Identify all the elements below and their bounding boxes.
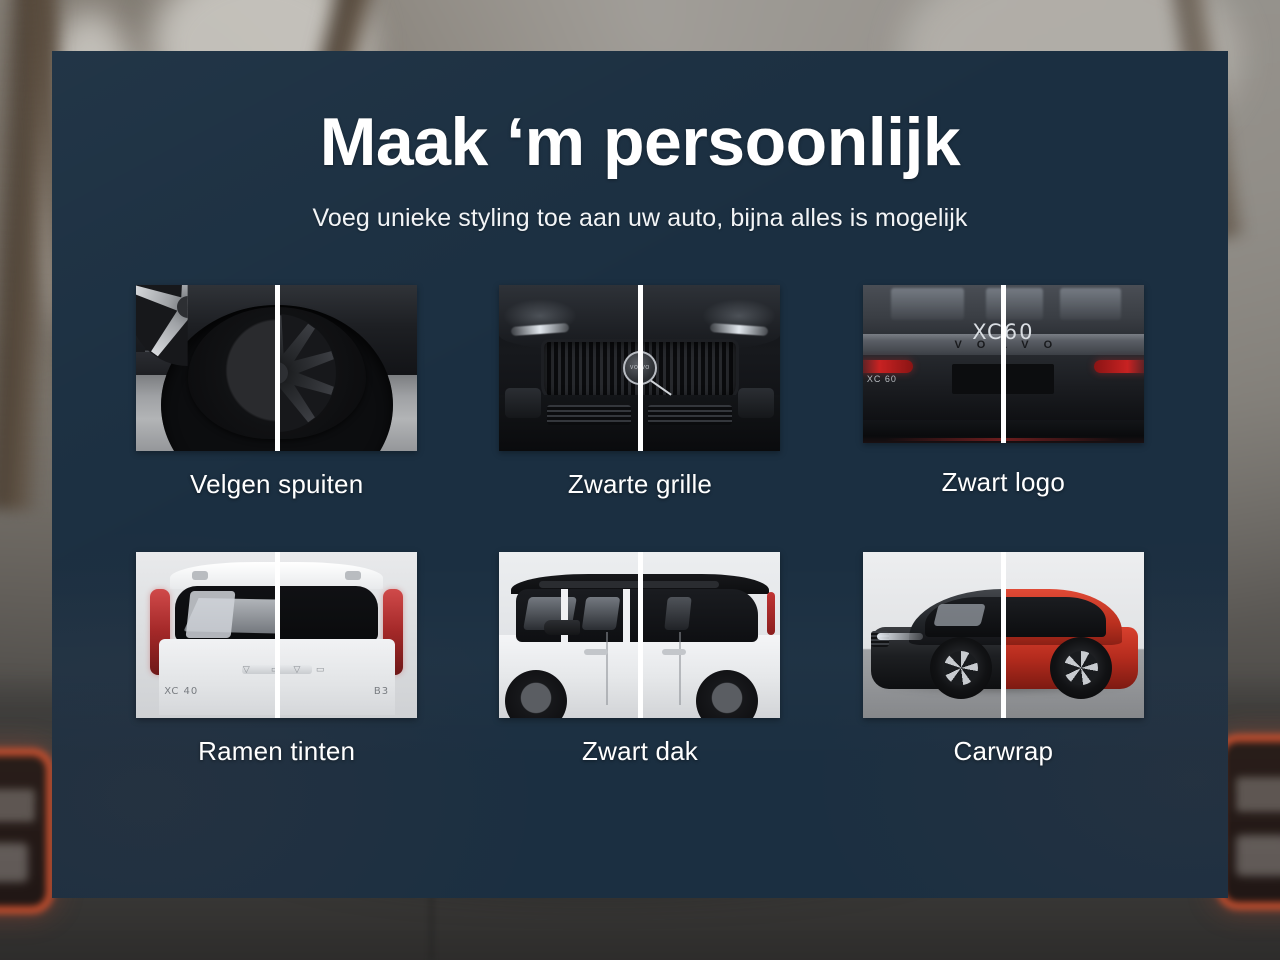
window-reflection — [1060, 288, 1122, 319]
feature-thumbnail-zwart-dak[interactable] — [499, 552, 780, 718]
wheel — [930, 637, 992, 699]
tailgate-emblem: ▽ — [243, 664, 250, 675]
door-seam — [679, 632, 681, 705]
feature-label-zwart-logo: Zwart logo — [942, 467, 1065, 498]
door-handle — [584, 649, 608, 655]
taillight-icon — [1224, 742, 1280, 902]
taillight-icon — [863, 360, 913, 373]
feature-label-zwart-dak: Zwart dak — [582, 736, 698, 767]
bumper-corner — [738, 388, 774, 418]
feature-thumbnail-ramen-tinten[interactable]: ▽ ▭ ▽ ▭ XC 40 B3 — [136, 552, 417, 718]
roof-rail — [192, 571, 208, 580]
wheel — [1050, 637, 1112, 699]
air-intake — [547, 405, 631, 425]
feature-tile-carwrap[interactable]: Carwrap — [837, 552, 1170, 767]
taillight-inner — [1236, 835, 1280, 877]
headlight-icon — [877, 633, 923, 640]
window-reflection — [986, 288, 1042, 319]
window-reflection — [891, 288, 964, 319]
feature-label-ramen-tinten: Ramen tinten — [198, 736, 355, 767]
feature-grid: Velgen spuiten — [110, 285, 1170, 767]
model-badge-left: XC 40 — [164, 686, 198, 697]
before-after-split-line[interactable] — [1001, 285, 1006, 443]
feature-thumbnail-carwrap[interactable] — [863, 552, 1144, 718]
feature-thumbnail-zwarte-grille[interactable]: VOLVO — [499, 285, 780, 451]
feature-thumbnail-zwart-logo[interactable]: VOLVO XC60 XC 60 — [863, 285, 1144, 443]
window-reflection — [582, 597, 620, 630]
feature-tile-ramen-tinten[interactable]: ▽ ▭ ▽ ▭ XC 40 B3 Ramen tinten — [110, 552, 443, 767]
side-mirror — [544, 620, 580, 635]
door-handle — [662, 649, 686, 655]
tailgate-emblem: ▽ — [294, 664, 301, 675]
window-reflection — [664, 597, 692, 630]
untinted-reflection — [185, 591, 234, 638]
model-badge-right: B3 — [374, 686, 389, 697]
c-pillar — [623, 589, 630, 642]
taillight-icon — [767, 592, 775, 635]
bumper-corner — [505, 388, 541, 418]
side-badge: XC 60 — [867, 374, 897, 384]
air-intake — [648, 405, 732, 425]
tailgate-emblem: ▭ — [316, 664, 325, 675]
page-root: Maak ‘m persoonlijk Voeg unieke styling … — [0, 0, 1280, 960]
feature-thumbnail-velgen-spuiten[interactable] — [136, 285, 417, 451]
taillight-inner — [0, 789, 35, 822]
feature-label-zwarte-grille: Zwarte grille — [568, 469, 712, 500]
feature-tile-zwart-dak[interactable]: Zwart dak — [473, 552, 806, 767]
feature-tile-velgen-spuiten[interactable]: Velgen spuiten — [110, 285, 443, 500]
roof-rail — [345, 571, 361, 580]
page-subtitle: Voeg unieke styling toe aan uw auto, bij… — [52, 204, 1228, 233]
page-title: Maak ‘m persoonlijk — [52, 107, 1228, 178]
content-panel: Maak ‘m persoonlijk Voeg unieke styling … — [52, 51, 1228, 898]
taillight-icon — [1094, 360, 1144, 373]
feature-label-velgen-spuiten: Velgen spuiten — [190, 469, 363, 500]
taillight-inner — [0, 843, 28, 882]
before-after-split-line[interactable] — [275, 285, 280, 451]
before-after-split-line[interactable] — [638, 285, 643, 451]
door-seam — [606, 632, 608, 705]
before-after-split-line[interactable] — [638, 552, 643, 718]
before-after-split-line[interactable] — [1001, 552, 1006, 718]
feature-tile-zwarte-grille[interactable]: VOLVO Zwarte grille — [473, 285, 806, 500]
window-reflection — [933, 604, 986, 626]
taillight-icon — [0, 756, 46, 906]
feature-label-carwrap: Carwrap — [954, 736, 1054, 767]
before-after-split-line[interactable] — [275, 552, 280, 718]
roof-rail — [539, 581, 719, 588]
feature-tile-zwart-logo[interactable]: VOLVO XC60 XC 60 — [837, 285, 1170, 500]
taillight-inner — [1236, 777, 1280, 812]
